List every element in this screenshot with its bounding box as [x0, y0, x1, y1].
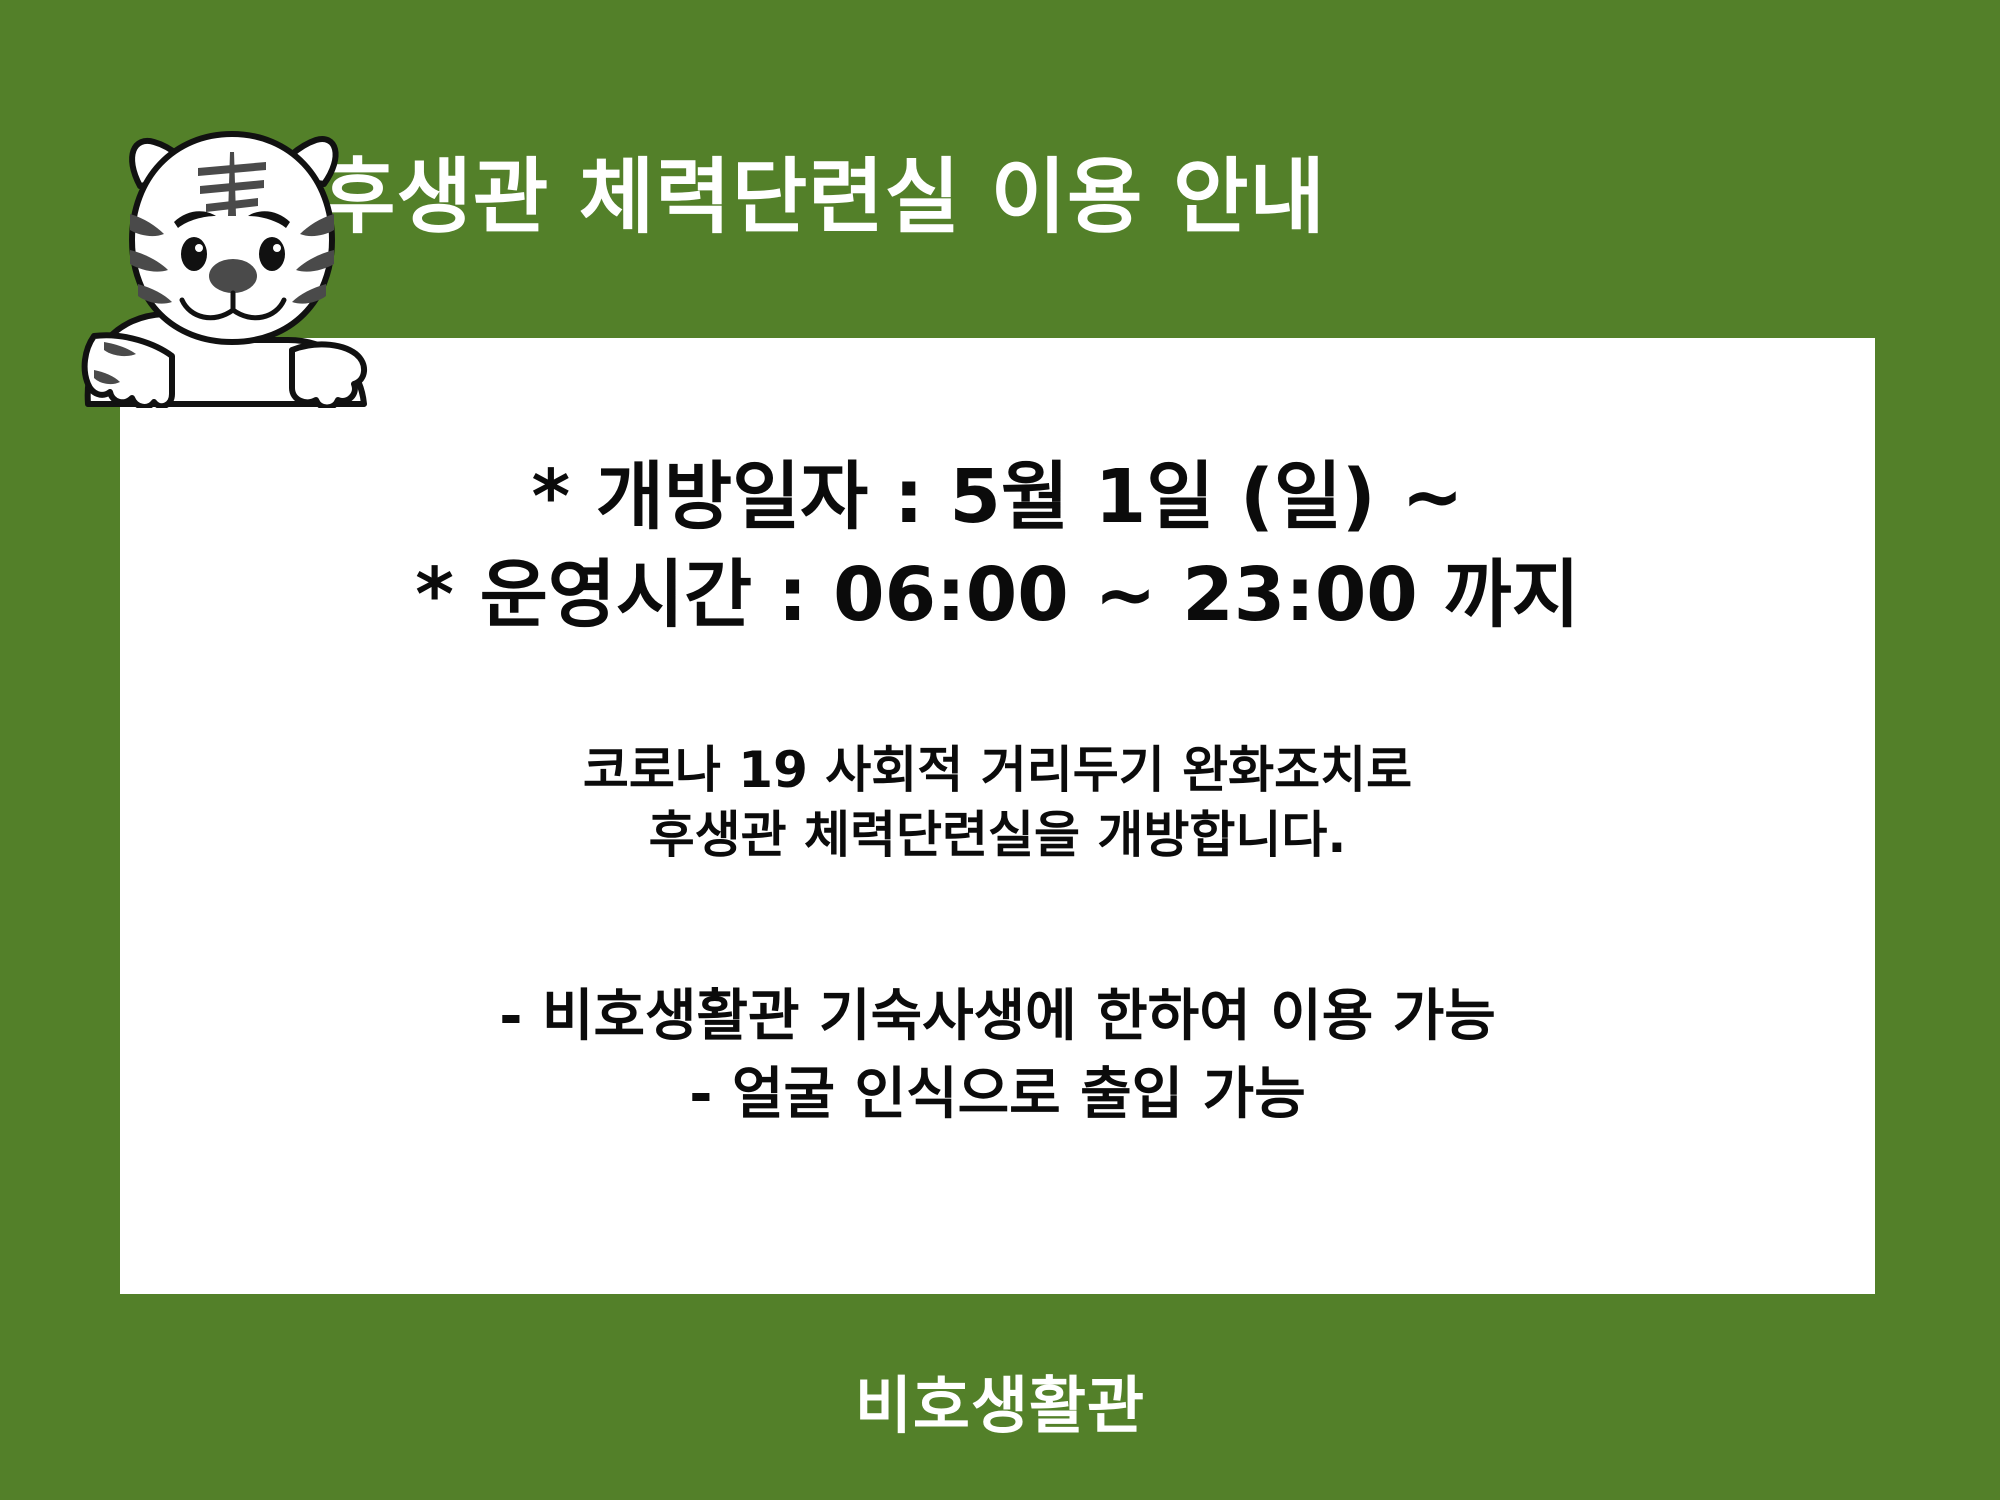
body-line-1: 코로나 19 사회적 거리두기 완화조치로: [120, 738, 1875, 803]
poster-title-bar: 후생관 체력단련실 이용 안내: [320, 143, 1720, 253]
footer-organization-name: 비호생활관: [855, 1369, 1145, 1442]
note-line-access: - 얼굴 인식으로 출입 가능: [120, 1056, 1875, 1134]
page-title: 후생관 체력단련실 이용 안내: [320, 155, 1326, 241]
notes-block: - 비호생활관 기숙사생에 한하여 이용 가능 - 얼굴 인식으로 출입 가능: [120, 978, 1875, 1135]
body-block: 코로나 19 사회적 거리두기 완화조치로 후생관 체력단련실을 개방합니다.: [120, 738, 1875, 868]
headline-open-date: * 개방일자 : 5월 1일 (일) ~: [120, 448, 1875, 546]
content-panel: * 개방일자 : 5월 1일 (일) ~ * 운영시간 : 06:00 ~ 23…: [120, 338, 1875, 1294]
note-line-eligibility: - 비호생활관 기숙사생에 한하여 이용 가능: [120, 978, 1875, 1056]
headline-operating-hours: * 운영시간 : 06:00 ~ 23:00 까지: [120, 546, 1875, 644]
poster-root: 후생관 체력단련실 이용 안내: [0, 0, 2000, 1500]
body-line-2: 후생관 체력단련실을 개방합니다.: [120, 803, 1875, 868]
headline-block: * 개방일자 : 5월 1일 (일) ~ * 운영시간 : 06:00 ~ 23…: [120, 448, 1875, 645]
footer: 비호생활관: [0, 1355, 2000, 1445]
